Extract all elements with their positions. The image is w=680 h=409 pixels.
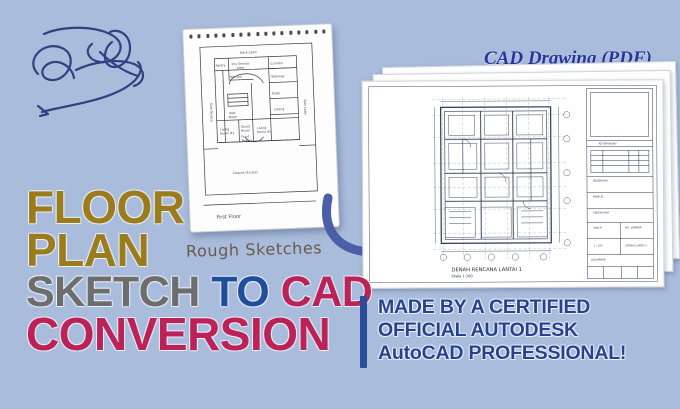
svg-text:PERENCANA: PERENCANA	[593, 210, 609, 214]
cad-technical-drawing: DENAH RENCANA LANTAI 1 Skala 1:100	[362, 80, 663, 288]
svg-text:DENAH LANTAI 1: DENAH LANTAI 1	[625, 243, 647, 247]
headline-line-floor: FLOOR	[26, 186, 356, 229]
svg-text:DIGAMBAR: DIGAMBAR	[591, 258, 605, 262]
svg-text:Room #1: Room #1	[220, 131, 235, 136]
svg-text:Side Terrace: Side Terrace	[209, 103, 214, 122]
svg-text:Stairway: Stairway	[271, 74, 285, 79]
svg-text:Back Lawn: Back Lawn	[240, 50, 257, 55]
cad-plan-title: DENAH RENCANA LANTAI 1	[451, 267, 522, 273]
promo-block: MADE BY A CERTIFIED OFFICIAL AUTODESK Au…	[360, 296, 626, 368]
svg-text:Dining: Dining	[274, 107, 284, 111]
svg-text:PEMILIK: PEMILIK	[593, 195, 603, 199]
svg-text:Terrace: Terrace	[240, 138, 252, 142]
cad-plan-scale: Skala 1:100	[451, 274, 473, 278]
promo-line-2: OFFICIAL AUTODESK	[378, 319, 626, 342]
svg-text:Room: Room	[241, 128, 250, 132]
poster-canvas: Back Lawn Pantry Dry Service Area Corrid…	[0, 0, 680, 409]
headline-block: FLOOR PLAN SKETCH TO CAD CONVERSION	[26, 186, 356, 356]
svg-text:PEKERJAAN: PEKERJAAN	[593, 179, 608, 183]
svg-text:Room: Room	[228, 115, 237, 119]
svg-text:Kitchen: Kitchen	[230, 75, 242, 79]
promo-divider-bar	[360, 296, 367, 368]
promo-line-1: MADE BY A CERTIFIED	[378, 296, 626, 319]
headline-line-plan: PLAN	[26, 229, 356, 272]
svg-text:KETERANGAN: KETERANGAN	[599, 141, 617, 145]
promo-line-3: AutoCAD PROFESSIONAL!	[378, 342, 626, 365]
cad-sheet-front: DENAH RENCANA LANTAI 1 Skala 1:100	[361, 79, 664, 289]
svg-text:Room #2: Room #2	[257, 130, 272, 135]
svg-text:Corridor: Corridor	[270, 61, 283, 66]
promo-text: MADE BY A CERTIFIED OFFICIAL AUTODESK Au…	[378, 296, 626, 365]
script-monogram-logo	[14, 14, 164, 119]
svg-text:Toilet: Toilet	[271, 91, 281, 95]
headline-line-conversion: CONVERSION	[26, 313, 356, 356]
svg-text:SKALA: SKALA	[593, 226, 602, 230]
svg-text:Side Lawn: Side Lawn	[303, 99, 308, 115]
svg-text:Pantry: Pantry	[215, 63, 225, 67]
svg-text:Carport (6 Cars): Carport (6 Cars)	[233, 170, 258, 175]
headline-line-sketch-to-cad: SKETCH TO CAD	[26, 272, 356, 312]
svg-text:NO. LEMBAR: NO. LEMBAR	[625, 225, 641, 229]
cad-paper-stack: DENAH RENCANA LANTAI 1 Skala 1:100	[360, 64, 680, 290]
svg-text:1 : 100: 1 : 100	[593, 244, 602, 248]
svg-text:Area: Area	[237, 66, 244, 70]
